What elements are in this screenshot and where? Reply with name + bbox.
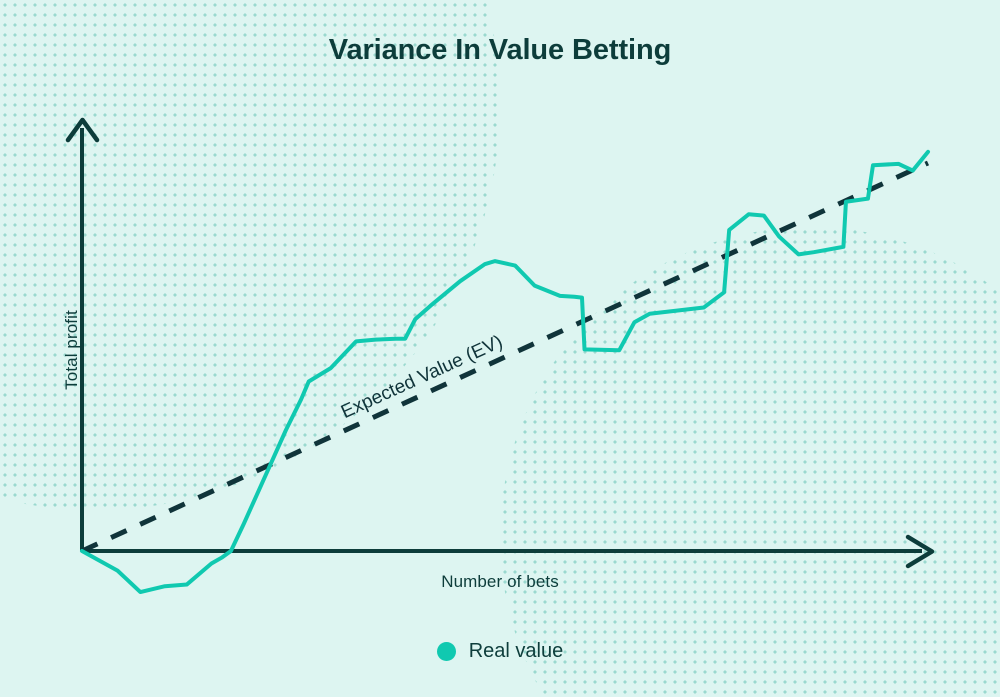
legend-marker-real-value [437, 642, 456, 661]
series-expected-value [82, 163, 928, 551]
series-layer [82, 152, 928, 592]
chart-canvas: Variance In Value Betting Total profit N… [0, 0, 1000, 697]
legend-label-real-value: Real value [469, 640, 564, 663]
y-axis-label: Total profit [62, 270, 82, 430]
chart-legend: Real value [0, 640, 1000, 663]
series-real-value [82, 152, 928, 592]
x-axis-label: Number of bets [0, 572, 1000, 592]
